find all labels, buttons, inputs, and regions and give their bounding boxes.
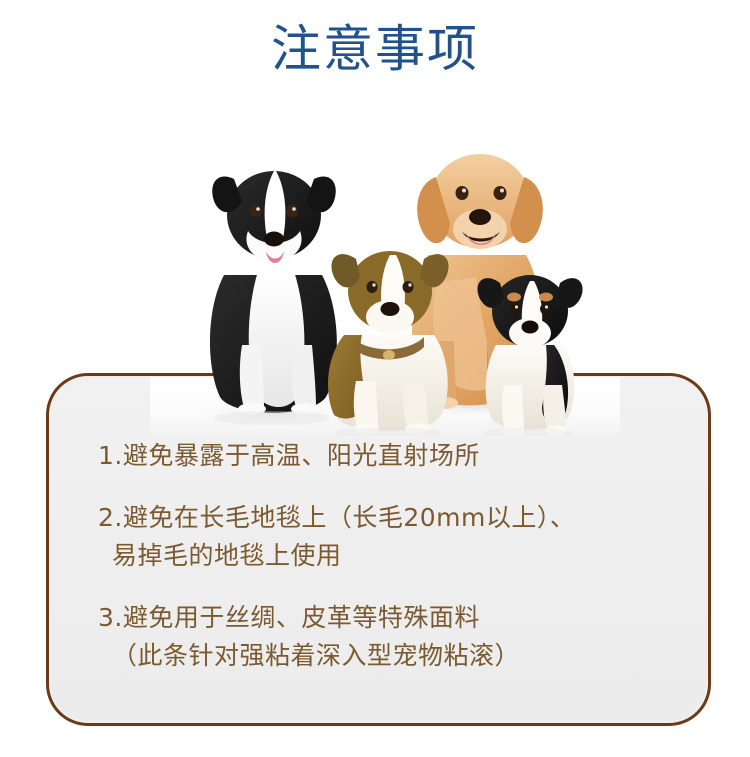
- notice-item-3-line-1: 3.避免用于丝绸、皮革等特殊面料: [98, 603, 480, 632]
- notice-item-3-line-2: （此条针对强粘着深入型宠物粘滚）: [98, 637, 681, 675]
- notice-item-2-line-1: 2.避免在长毛地毯上（长毛20mm以上）、: [98, 503, 575, 532]
- notice-item-1-line-1: 1.避免暴露于高温、阳光直射场所: [98, 441, 480, 470]
- notice-item-2-line-2: 易掉毛的地毯上使用: [98, 537, 681, 575]
- notice-item-1: 1.避免暴露于高温、阳光直射场所: [98, 437, 681, 475]
- notice-item-2: 2.避免在长毛地毯上（长毛20mm以上）、 易掉毛的地毯上使用: [98, 499, 681, 575]
- notice-item-3: 3.避免用于丝绸、皮革等特殊面料 （此条针对强粘着深入型宠物粘滚）: [98, 599, 681, 675]
- notice-list: 1.避免暴露于高温、阳光直射场所 2.避免在长毛地毯上（长毛20mm以上）、 易…: [46, 373, 711, 726]
- page-title: 注意事项: [0, 18, 750, 80]
- notice-page: 注意事项: [0, 0, 750, 757]
